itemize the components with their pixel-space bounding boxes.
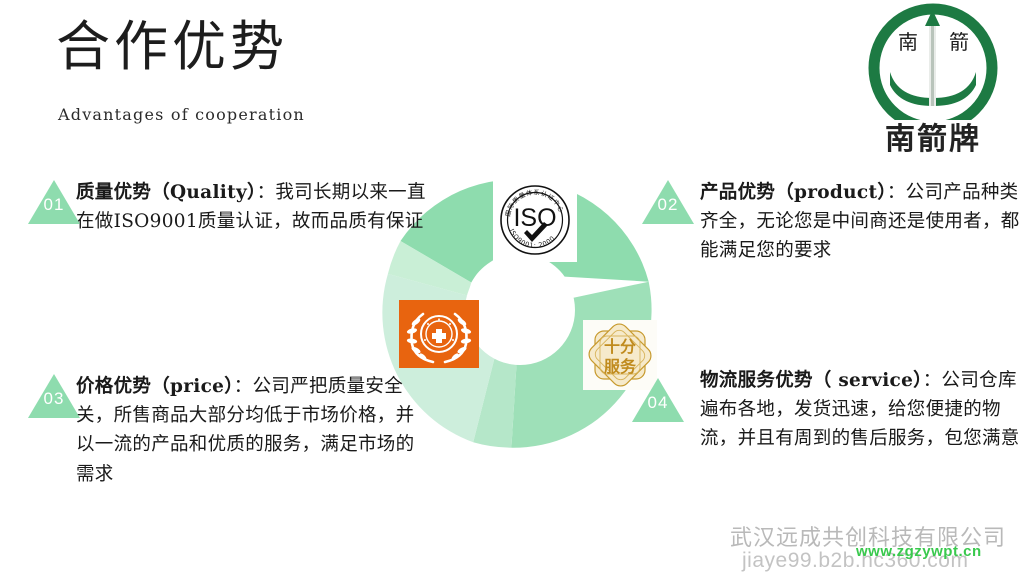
logo-char-left: 南 bbox=[898, 30, 918, 54]
advantage-heading-04: 物流服务优势（ service） bbox=[700, 370, 923, 391]
advantage-marker-01: 01 bbox=[26, 178, 82, 226]
advantage-block-04: 04 物流服务优势（ service）：公司仓库遍布各地，发货迅速，给您便捷的物… bbox=[630, 366, 1024, 454]
iso-main-text: ISO bbox=[513, 204, 556, 232]
advantage-number-02: 02 bbox=[640, 195, 696, 215]
brand-name: 南箭牌 bbox=[860, 114, 1006, 158]
page-title: 合作优势 bbox=[56, 16, 288, 78]
advantage-marker-04: 04 bbox=[630, 376, 686, 424]
advantage-number-03: 03 bbox=[26, 389, 82, 409]
advantage-number-01: 01 bbox=[26, 195, 82, 215]
iso-badge: 国际质量体系认证中心 ISO9001: 2000 ISO bbox=[493, 178, 577, 262]
slide-canvas: 合作优势 Advantages of cooperation 南 箭 南箭牌 bbox=[0, 0, 1024, 576]
watermark-site-url: www.zgzywpt.cn bbox=[856, 543, 982, 560]
advantage-number-04: 04 bbox=[630, 393, 686, 413]
donut-hole bbox=[465, 255, 575, 365]
advantage-block-03: 03 价格优势（price）：公司严把质量安全关，所售商品大部分均低于市场价格，… bbox=[26, 372, 426, 489]
advantage-text-01: 质量优势（Quality）：我司长期以来一直在做ISO9001质量认证，故而品质… bbox=[76, 178, 426, 236]
advantage-marker-03: 03 bbox=[26, 372, 82, 420]
advantage-block-02: 02 产品优势（product）：公司产品种类齐全，无论您是中间商还是使用者，都… bbox=[640, 178, 1024, 266]
advantage-heading-02: 产品优势（product） bbox=[700, 182, 887, 203]
nanjian-circle-logo-icon: 南 箭 bbox=[860, 2, 1006, 120]
star-badge-line1: 十分 bbox=[604, 337, 636, 356]
iso-certificate-icon: 国际质量体系认证中心 ISO9001: 2000 ISO bbox=[493, 178, 577, 262]
advantage-text-03: 价格优势（price）：公司严把质量安全关，所售商品大部分均低于市场价格，并以一… bbox=[76, 372, 426, 489]
brand-logo: 南 箭 南箭牌 bbox=[860, 2, 1006, 162]
advantage-text-04: 物流服务优势（ service）：公司仓库遍布各地，发货迅速，给您便捷的物流，并… bbox=[700, 366, 1024, 454]
advantage-heading-01: 质量优势（Quality） bbox=[76, 182, 257, 203]
advantage-marker-02: 02 bbox=[640, 178, 696, 226]
advantage-heading-03: 价格优势（price） bbox=[76, 376, 234, 397]
page-subtitle: Advantages of cooperation bbox=[58, 105, 305, 124]
advantage-block-01: 01 质量优势（Quality）：我司长期以来一直在做ISO9001质量认证，故… bbox=[26, 178, 426, 236]
orange-wreath-seal-icon bbox=[399, 300, 479, 368]
advantage-text-02: 产品优势（product）：公司产品种类齐全，无论您是中间商还是使用者，都能满足… bbox=[700, 178, 1024, 266]
logo-char-right: 箭 bbox=[949, 30, 969, 54]
quality-seal-badge bbox=[399, 300, 479, 368]
